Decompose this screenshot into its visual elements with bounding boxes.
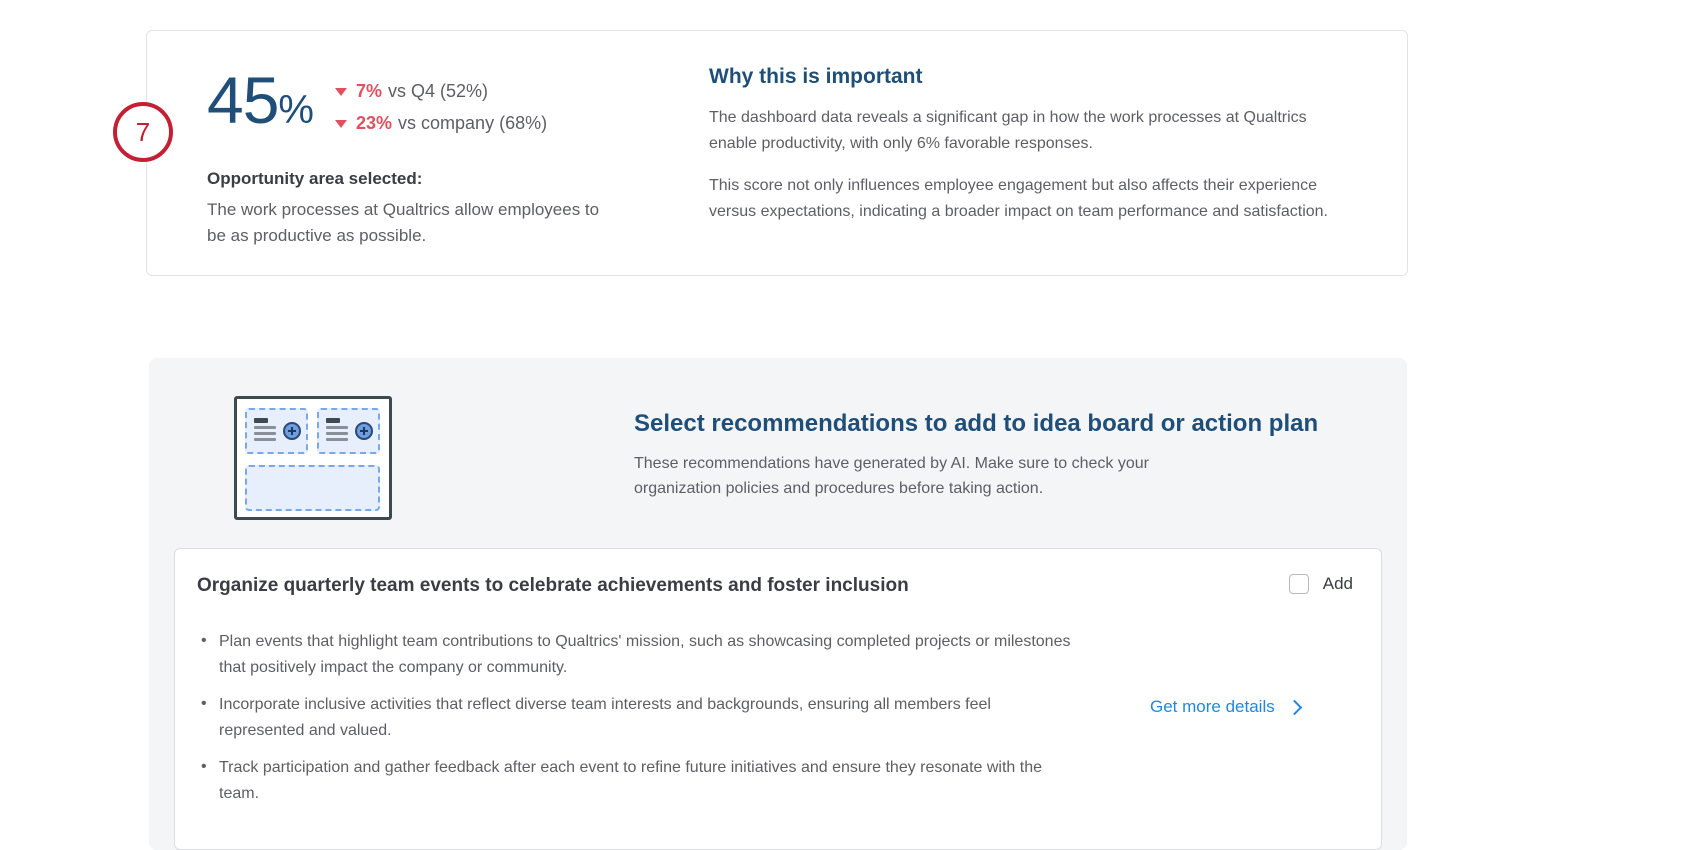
delta-label: vs Q4 (52%) [388, 81, 488, 102]
delta-value: 23% [356, 113, 392, 134]
illustration-frame [234, 396, 392, 520]
recommendation-bullet-list: Plan events that highlight team contribu… [197, 629, 1077, 818]
get-more-details-link[interactable]: Get more details [1150, 697, 1300, 717]
idea-board-illustration-icon [234, 396, 402, 524]
step-badge: 7 [113, 102, 173, 162]
recommendation-card: Organize quarterly team events to celebr… [174, 548, 1382, 850]
illustration-card-slot [245, 408, 308, 454]
illustration-card-slot [317, 408, 380, 454]
list-item: Plan events that highlight team contribu… [197, 629, 1077, 681]
plus-circle-icon [283, 422, 301, 440]
delta-list: 7% vs Q4 (52%) 23% vs company (68%) [335, 69, 547, 145]
get-more-details-label: Get more details [1150, 697, 1275, 717]
list-item: Track participation and gather feedback … [197, 755, 1077, 807]
opportunity-area-label: Opportunity area selected: [207, 169, 637, 189]
summary-right-column: Why this is important The dashboard data… [709, 65, 1329, 225]
recommendations-panel: Select recommendations to add to idea bo… [149, 358, 1407, 850]
why-important-title: Why this is important [709, 65, 1329, 89]
page-root: 7 45% 7% vs Q4 (52%) 23% vs company (68%… [0, 0, 1700, 850]
why-important-paragraph: The dashboard data reveals a significant… [709, 105, 1329, 157]
list-item: Incorporate inclusive activities that re… [197, 692, 1077, 744]
score-value: 45% [207, 69, 313, 131]
recommendation-card-title: Organize quarterly team events to celebr… [197, 575, 909, 597]
recommendations-title: Select recommendations to add to idea bo… [634, 410, 1364, 438]
list-lines-icon [326, 418, 348, 444]
why-important-paragraph: This score not only influences employee … [709, 173, 1329, 225]
score-percent-sign: % [278, 88, 313, 132]
recommendations-subtitle: These recommendations have generated by … [634, 451, 1234, 501]
plus-circle-icon [355, 422, 373, 440]
score-number: 45 [207, 63, 278, 137]
opportunity-area-text: The work processes at Qualtrics allow em… [207, 197, 617, 249]
add-label: Add [1323, 574, 1353, 594]
summary-left-column: 45% 7% vs Q4 (52%) 23% vs company (68%) … [207, 69, 637, 249]
chevron-right-icon [1286, 699, 1302, 715]
delta-value: 7% [356, 81, 382, 102]
list-lines-icon [254, 418, 276, 444]
add-checkbox[interactable] [1289, 574, 1309, 594]
arrow-down-icon [335, 88, 347, 96]
add-recommendation-control[interactable]: Add [1289, 574, 1353, 594]
recommendations-header: Select recommendations to add to idea bo… [149, 358, 1407, 548]
illustration-empty-slot [245, 465, 380, 511]
arrow-down-icon [335, 120, 347, 128]
recommendations-header-text: Select recommendations to add to idea bo… [634, 410, 1364, 501]
delta-label: vs company (68%) [398, 113, 547, 134]
delta-row: 7% vs Q4 (52%) [335, 81, 547, 102]
delta-row: 23% vs company (68%) [335, 113, 547, 134]
score-row: 45% 7% vs Q4 (52%) 23% vs company (68%) [207, 69, 637, 145]
step-badge-number: 7 [136, 117, 150, 148]
summary-card: 45% 7% vs Q4 (52%) 23% vs company (68%) … [146, 30, 1408, 276]
